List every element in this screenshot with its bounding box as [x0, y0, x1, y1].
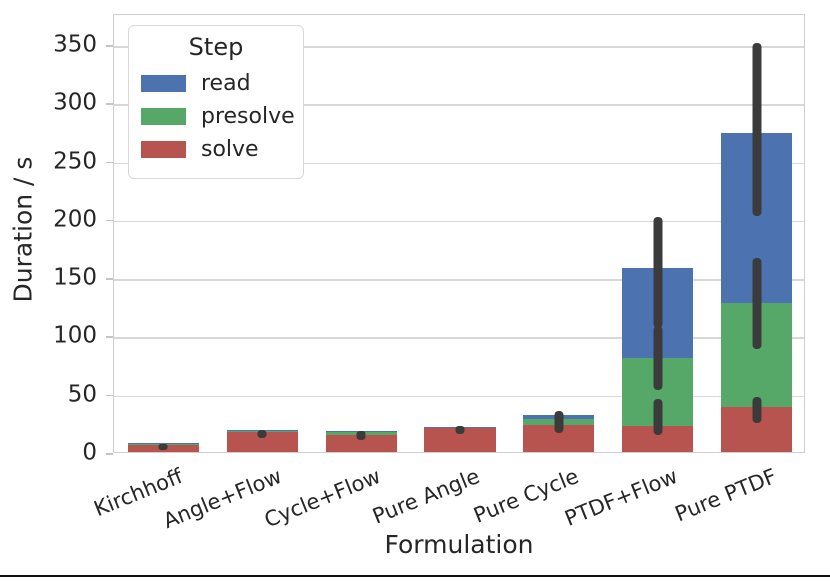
- error-bar: [456, 426, 465, 432]
- y-tick-mark: [106, 220, 113, 222]
- error-bar: [357, 431, 366, 437]
- y-tick-mark: [106, 336, 113, 338]
- y-tick-mark: [106, 103, 113, 105]
- y-axis-ticks: 050100150200250300350: [0, 0, 113, 467]
- legend-label: presolve: [201, 106, 295, 128]
- legend: Step readpresolvesolve: [128, 25, 304, 179]
- legend-label: read: [201, 73, 251, 95]
- chart-figure: Duration / s 050100150200250300350 Kirch…: [0, 0, 830, 581]
- y-tick-label: 150: [53, 267, 97, 290]
- error-bar: [554, 411, 563, 423]
- legend-entry[interactable]: presolve: [141, 100, 291, 133]
- legend-label: solve: [201, 139, 259, 161]
- legend-entry[interactable]: solve: [141, 133, 291, 166]
- y-tick-label: 0: [82, 442, 97, 465]
- error-bar: [159, 444, 168, 449]
- error-bar: [653, 217, 662, 328]
- y-tick-label: 50: [68, 383, 97, 406]
- legend-title: Step: [141, 34, 291, 60]
- bar-group[interactable]: [523, 13, 594, 452]
- y-tick-mark: [106, 453, 113, 455]
- y-tick-label: 350: [53, 34, 97, 57]
- x-axis-label: Formulation: [113, 530, 805, 559]
- error-bar: [752, 43, 761, 217]
- y-tick-label: 300: [53, 92, 97, 115]
- legend-color-swatch: [141, 75, 186, 92]
- legend-entries: readpresolvesolve: [141, 67, 291, 166]
- y-tick-mark: [106, 278, 113, 280]
- legend-entry[interactable]: read: [141, 67, 291, 100]
- error-bar: [752, 258, 761, 349]
- bar-group[interactable]: [326, 13, 397, 452]
- error-bar: [752, 397, 761, 423]
- error-bar: [258, 430, 267, 437]
- bar-group[interactable]: [424, 13, 495, 452]
- y-tick-mark: [106, 395, 113, 397]
- error-bar: [653, 326, 662, 390]
- bottom-divider: [0, 575, 830, 577]
- error-bar: [653, 399, 662, 435]
- y-tick-label: 250: [53, 150, 97, 173]
- y-tick-mark: [106, 162, 113, 164]
- y-tick-mark: [106, 45, 113, 47]
- y-tick-label: 200: [53, 208, 97, 231]
- legend-color-swatch: [141, 141, 186, 158]
- legend-color-swatch: [141, 108, 186, 125]
- y-tick-label: 100: [53, 325, 97, 348]
